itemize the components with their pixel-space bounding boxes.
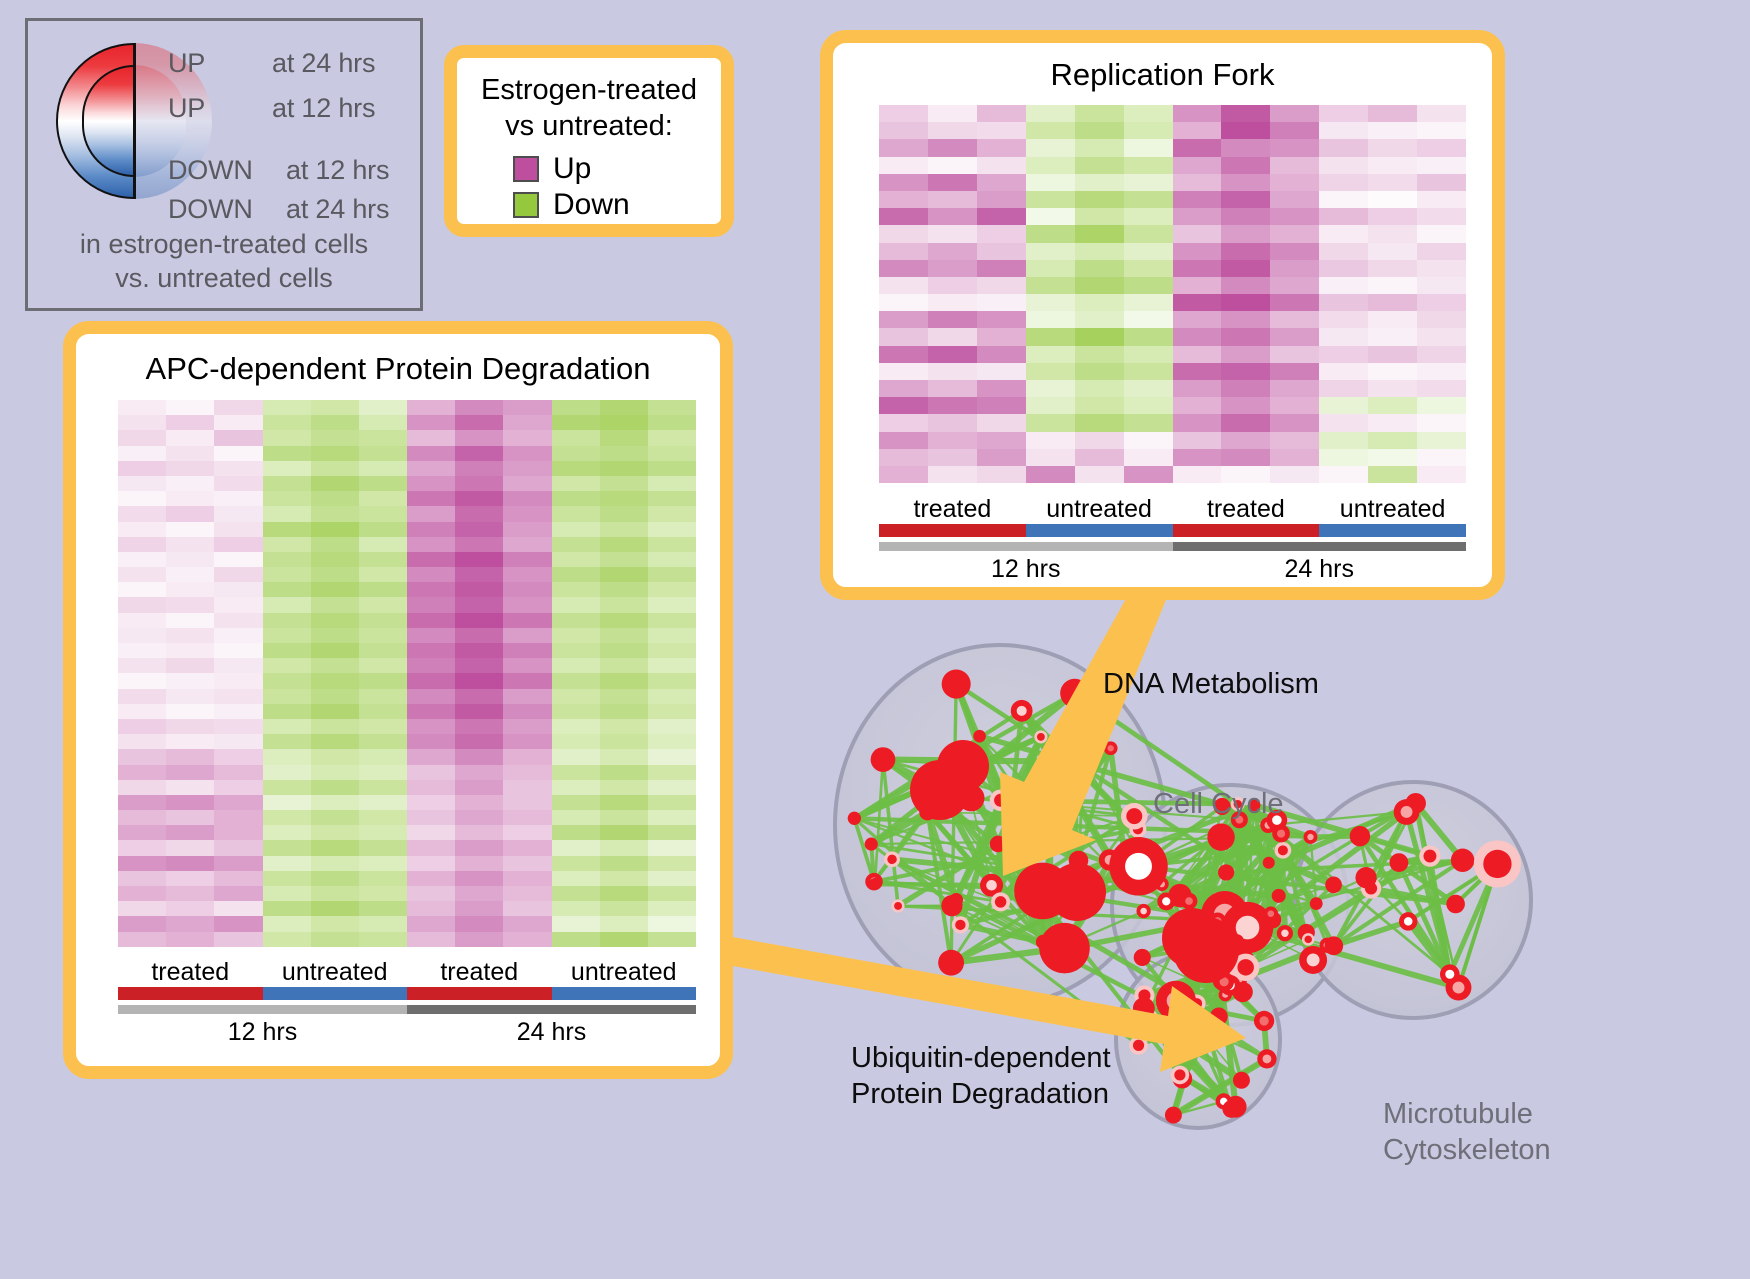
- heatmap-cell: [166, 932, 214, 947]
- heatmap-cell: [455, 932, 503, 947]
- down-swatch-icon: [513, 192, 539, 218]
- heatmap-cell: [648, 461, 696, 476]
- heatmap-cell: [1368, 294, 1417, 311]
- network-edge: [1238, 945, 1327, 980]
- heatmap-cell: [263, 537, 311, 552]
- network-node: [1165, 1107, 1182, 1124]
- network-edge: [952, 906, 1051, 952]
- heatmap-cell: [503, 825, 551, 840]
- network-edge: [892, 859, 1001, 902]
- network-node: [980, 874, 1003, 897]
- network-node-halo: [1171, 1066, 1190, 1085]
- network-node-core: [1401, 806, 1413, 818]
- heatmap-cell: [600, 537, 648, 552]
- network-node: [1405, 793, 1426, 814]
- heatmap-cell: [1319, 174, 1368, 191]
- network-edge: [874, 829, 1138, 881]
- network-node: [1193, 1020, 1206, 1033]
- heatmap-cell: [648, 916, 696, 931]
- heatmap-cell: [648, 430, 696, 445]
- heatmap-cell: [1417, 243, 1466, 260]
- network-node-core: [1281, 930, 1288, 937]
- heatmap-cell: [166, 446, 214, 461]
- network-edge: [1185, 982, 1224, 1020]
- expression-legend-heading: Estrogen-treated vs untreated:: [457, 72, 721, 144]
- heatmap-cell: [600, 628, 648, 643]
- network-edge: [1185, 992, 1243, 1020]
- heatmap-cell: [503, 582, 551, 597]
- replication-fork-group-labels: treateduntreatedtreateduntreated: [879, 495, 1466, 524]
- network-edge: [1269, 863, 1313, 960]
- heatmap-cell: [977, 380, 1026, 397]
- heatmap-cell: [311, 886, 359, 901]
- heatmap-cell: [455, 825, 503, 840]
- cluster-label-microtubule-cytoskeleton: Microtubule Cytoskeleton: [1383, 1096, 1551, 1168]
- network-edge: [1192, 837, 1310, 934]
- heatmap-cell: [1319, 225, 1368, 242]
- network-edge: [1306, 933, 1308, 940]
- heatmap-cell: [263, 673, 311, 688]
- network-edge: [874, 882, 1001, 902]
- network-edge: [1239, 820, 1283, 851]
- heatmap-cell: [648, 415, 696, 430]
- heatmap-cell: [977, 397, 1026, 414]
- heatmap-cell: [1173, 294, 1222, 311]
- network-edge: [1022, 711, 1110, 860]
- network-node-halo: [891, 899, 904, 912]
- network-edge: [1334, 863, 1399, 946]
- heatmap-cell: [1075, 225, 1124, 242]
- network-edge: [1360, 836, 1371, 888]
- heatmap-cell: [359, 567, 407, 582]
- heatmap-cell: [1270, 174, 1319, 191]
- network-edge: [1078, 762, 1084, 861]
- heatmap-cell: [118, 780, 166, 795]
- heatmap-cell: [977, 294, 1026, 311]
- heatmap-cell: [552, 734, 600, 749]
- heatmap-cell: [263, 430, 311, 445]
- network-edge: [1399, 856, 1430, 863]
- network-node: [1133, 824, 1143, 834]
- heatmap-cell: [166, 400, 214, 415]
- heatmap-cell: [552, 704, 600, 719]
- network-edge: [1183, 992, 1243, 1005]
- heatmap-cell: [977, 328, 1026, 345]
- network-edge: [1218, 921, 1255, 929]
- network-node-halo: [884, 851, 900, 867]
- network-node-halo: [991, 892, 1010, 911]
- heatmap-cell: [928, 191, 977, 208]
- heatmap-cell: [166, 597, 214, 612]
- heatmap-cell: [1319, 208, 1368, 225]
- network-edge: [1162, 884, 1194, 935]
- heatmap-cell: [648, 552, 696, 567]
- heatmap-cell: [879, 380, 928, 397]
- heatmap-cell: [879, 157, 928, 174]
- heatmap-cell: [214, 840, 262, 855]
- heatmap-cell: [1319, 346, 1368, 363]
- heatmap-cell: [1417, 260, 1466, 277]
- network-node: [1223, 974, 1235, 986]
- network-edge: [1407, 812, 1450, 974]
- network-node: [1218, 903, 1245, 930]
- network-edge: [1144, 995, 1179, 1074]
- heatmap-cell: [977, 225, 1026, 242]
- heatmap-cell: [311, 780, 359, 795]
- heatmap-cell: [1221, 432, 1270, 449]
- network-edge: [1144, 995, 1147, 1019]
- heatmap-cell: [1075, 311, 1124, 328]
- heatmap-cell: [648, 856, 696, 871]
- heatmap-cell: [359, 795, 407, 810]
- network-node: [1399, 912, 1418, 931]
- network-node: [1272, 889, 1286, 903]
- network-edge: [1310, 837, 1316, 904]
- heatmap-cell: [648, 476, 696, 491]
- column-group-color-segment: [263, 987, 408, 1000]
- colorwheel-caption: in estrogen-treated cells vs. untreated …: [28, 227, 420, 295]
- heatmap-cell: [600, 704, 648, 719]
- network-edge: [928, 812, 992, 885]
- heatmap-cell: [1270, 157, 1319, 174]
- heatmap-cell: [214, 522, 262, 537]
- heatmap-cell: [455, 765, 503, 780]
- network-node: [1483, 850, 1511, 878]
- heatmap-cell: [166, 886, 214, 901]
- network-node: [1126, 808, 1142, 824]
- network-node-core: [1307, 834, 1313, 840]
- heatmap-cell: [166, 765, 214, 780]
- heatmap-cell: [552, 597, 600, 612]
- heatmap-cell: [166, 704, 214, 719]
- network-node-core: [1048, 840, 1054, 846]
- cluster-label-ubiquitin-line-1: Ubiquitin-dependent: [851, 1040, 1111, 1076]
- network-edge: [854, 737, 1041, 818]
- heatmap-cell: [455, 840, 503, 855]
- colorwheel-legend-box: UP at 24 hrs UP at 12 hrs DOWN at 12 hrs…: [25, 18, 423, 311]
- heatmap-cell: [118, 749, 166, 764]
- network-edge: [1178, 921, 1218, 946]
- heatmap-cell: [1026, 363, 1075, 380]
- network-edge: [1248, 928, 1255, 930]
- network-edge: [1237, 914, 1271, 941]
- heatmap-cell: [928, 346, 977, 363]
- heatmap-cell: [1368, 139, 1417, 156]
- network-edge: [1268, 825, 1450, 974]
- heatmap-cell: [1221, 225, 1270, 242]
- heatmap-cell: [407, 810, 455, 825]
- heatmap-cell: [552, 522, 600, 537]
- heatmap-cell: [311, 673, 359, 688]
- heatmap-cell: [214, 597, 262, 612]
- heatmap-cell: [1173, 174, 1222, 191]
- colorwheel-row-3-label: DOWN: [168, 194, 253, 225]
- up-swatch-icon: [513, 156, 539, 182]
- heatmap-cell: [503, 446, 551, 461]
- network-edge: [1245, 896, 1279, 960]
- network-node: [1220, 975, 1241, 996]
- heatmap-cell: [359, 765, 407, 780]
- heatmap-cell: [1173, 397, 1222, 414]
- heatmap-cell: [166, 461, 214, 476]
- heatmap-cell: [928, 363, 977, 380]
- heatmap-cell: [214, 400, 262, 415]
- network-node-halo: [1244, 918, 1267, 941]
- heatmap-cell: [1270, 311, 1319, 328]
- heatmap-cell: [359, 901, 407, 916]
- heatmap-cell: [1075, 105, 1124, 122]
- heatmap-cell: [166, 734, 214, 749]
- heatmap-cell: [455, 446, 503, 461]
- heatmap-cell: [311, 430, 359, 445]
- network-edge: [1173, 1026, 1199, 1115]
- heatmap-cell: [648, 886, 696, 901]
- network-edge: [940, 790, 1043, 942]
- network-node-core: [1140, 908, 1147, 915]
- network-edge: [963, 766, 992, 885]
- network-node-core: [1267, 910, 1274, 917]
- heatmap-cell: [1075, 174, 1124, 191]
- heatmap-cell: [600, 932, 648, 947]
- network-edge: [1022, 711, 1138, 829]
- heatmap-cell: [879, 225, 928, 242]
- network-edge: [1192, 934, 1225, 995]
- network-edge: [1416, 803, 1463, 860]
- heatmap-cell: [214, 886, 262, 901]
- heatmap-cell: [118, 825, 166, 840]
- network-edge: [1192, 860, 1462, 933]
- heatmap-cell: [600, 749, 648, 764]
- cluster-halo-microtubule-cytoskeleton: [1295, 782, 1531, 1018]
- heatmap-cell: [648, 765, 696, 780]
- network-edge: [1269, 863, 1307, 933]
- heatmap-cell: [1270, 191, 1319, 208]
- network-node: [1156, 981, 1196, 1021]
- network-node: [1011, 700, 1033, 722]
- heatmap-cell: [166, 476, 214, 491]
- heatmap-cell: [1417, 191, 1466, 208]
- heatmap-cell: [552, 400, 600, 415]
- network-edge: [1139, 825, 1269, 866]
- network-edge: [1239, 820, 1268, 863]
- heatmap-cell: [552, 461, 600, 476]
- heatmap-cell: [1124, 397, 1173, 414]
- network-edge: [963, 766, 1078, 860]
- network-node: [1162, 908, 1222, 968]
- heatmap-cell: [503, 795, 551, 810]
- network-edge: [1139, 866, 1226, 994]
- heatmap-cell: [1417, 105, 1466, 122]
- heatmap-cell: [1075, 294, 1124, 311]
- heatmap-cell: [1319, 294, 1368, 311]
- network-edge: [1206, 950, 1241, 1080]
- network-edge: [1192, 820, 1239, 938]
- network-edge: [1192, 834, 1281, 934]
- heatmap-cell: [1319, 432, 1368, 449]
- heatmap-cell: [1173, 157, 1222, 174]
- network-edge: [1162, 820, 1240, 884]
- heatmap-cell: [1124, 449, 1173, 466]
- network-edge: [1310, 836, 1359, 837]
- heatmap-cell: [552, 415, 600, 430]
- heatmap-cell: [1026, 105, 1075, 122]
- heatmap-cell: [407, 704, 455, 719]
- network-edge: [1237, 896, 1279, 941]
- network-edge: [971, 798, 1134, 816]
- heatmap-cell: [503, 810, 551, 825]
- heatmap-cell: [214, 613, 262, 628]
- network-edge: [1408, 864, 1497, 921]
- network-edge: [1268, 812, 1406, 825]
- heatmap-cell: [311, 901, 359, 916]
- heatmap-cell: [977, 277, 1026, 294]
- heatmap-cell: [1124, 174, 1173, 191]
- heatmap-cell: [359, 704, 407, 719]
- heatmap-cell: [977, 139, 1026, 156]
- network-edge: [1218, 885, 1334, 921]
- arrow-replication-fork: [1000, 595, 1168, 876]
- heatmap-cell: [1368, 311, 1417, 328]
- heatmap-cell: [407, 400, 455, 415]
- heatmap-cell: [407, 446, 455, 461]
- network-node: [1225, 1096, 1247, 1118]
- heatmap-cell: [166, 658, 214, 673]
- heatmap-cell: [1221, 397, 1270, 414]
- heatmap-cell: [879, 260, 928, 277]
- heatmap-cell: [166, 491, 214, 506]
- heatmap-cell: [311, 734, 359, 749]
- heatmap-cell: [1026, 380, 1075, 397]
- heatmap-cell: [118, 704, 166, 719]
- heatmap-cell: [407, 582, 455, 597]
- network-edge: [1139, 992, 1243, 1045]
- network-edge: [1225, 837, 1311, 915]
- heatmap-cell: [455, 780, 503, 795]
- network-node-core: [1445, 970, 1454, 979]
- network-edge: [883, 760, 1138, 830]
- network-node-core: [1404, 917, 1413, 926]
- network-edge: [1065, 829, 1138, 948]
- network-edge: [1399, 856, 1430, 863]
- heatmap-cell: [166, 689, 214, 704]
- heatmap-cell: [118, 886, 166, 901]
- network-edge: [1192, 938, 1206, 950]
- heatmap-cell: [879, 328, 928, 345]
- heatmap-cell: [407, 689, 455, 704]
- network-edge: [1178, 946, 1197, 1003]
- network-node: [1157, 892, 1175, 910]
- network-edge: [1192, 934, 1225, 995]
- heatmap-cell: [1173, 260, 1222, 277]
- network-node-halo: [1165, 934, 1190, 959]
- heatmap-cell: [1221, 414, 1270, 431]
- network-edge: [1148, 1019, 1242, 1080]
- network-edge: [871, 837, 1310, 844]
- heatmap-cell: [407, 643, 455, 658]
- network-edge: [1246, 885, 1334, 967]
- network-node: [869, 878, 881, 890]
- heatmap-cell: [359, 597, 407, 612]
- network-edge: [1281, 834, 1310, 837]
- network-edge: [1001, 748, 1111, 902]
- heatmap-cell: [214, 810, 262, 825]
- heatmap-cell: [1270, 432, 1319, 449]
- replication-fork-panel: Replication Fork treateduntreatedtreated…: [820, 30, 1505, 600]
- heatmap-cell: [455, 597, 503, 612]
- heatmap-cell: [600, 734, 648, 749]
- legend-item-down: Down: [513, 187, 721, 223]
- heatmap-cell: [1221, 122, 1270, 139]
- column-group-label: treated: [879, 495, 1026, 524]
- heatmap-cell: [263, 916, 311, 931]
- heatmap-cell: [1270, 139, 1319, 156]
- network-node: [1048, 863, 1106, 921]
- heatmap-cell: [118, 522, 166, 537]
- network-edge: [854, 818, 1327, 945]
- heatmap-cell: [359, 734, 407, 749]
- network-node: [955, 920, 965, 930]
- network-node: [1222, 902, 1273, 953]
- heatmap-cell: [1417, 277, 1466, 294]
- heatmap-cell: [648, 658, 696, 673]
- network-node: [1209, 913, 1226, 930]
- heatmap-cell: [166, 749, 214, 764]
- heatmap-cell: [977, 363, 1026, 380]
- network-node: [1207, 823, 1234, 850]
- heatmap-cell: [118, 430, 166, 445]
- network-edge: [1248, 825, 1269, 927]
- heatmap-cell: [214, 749, 262, 764]
- heatmap-cell: [552, 840, 600, 855]
- network-edge: [1139, 1016, 1219, 1045]
- heatmap-cell: [359, 689, 407, 704]
- heatmap-cell: [166, 780, 214, 795]
- network-edge: [1192, 935, 1194, 938]
- network-node-core: [1162, 897, 1170, 905]
- cluster-label-ubiquitin-protein-degradation: Ubiquitin-dependent Protein Degradation: [851, 1040, 1111, 1112]
- network-edge: [1144, 1008, 1148, 1019]
- heatmap-cell: [166, 673, 214, 688]
- network-edge: [1218, 921, 1285, 933]
- expression-legend-heading-line-1: Estrogen-treated: [457, 72, 721, 108]
- network-node-core: [953, 897, 959, 903]
- network-node-halo: [1302, 933, 1315, 946]
- heatmap-cell: [166, 719, 214, 734]
- heatmap-cell: [1124, 191, 1173, 208]
- network-edge: [928, 798, 972, 812]
- heatmap-cell: [1173, 346, 1222, 363]
- heatmap-cell: [503, 552, 551, 567]
- heatmap-cell: [166, 430, 214, 445]
- network-node: [1263, 857, 1275, 869]
- network-node: [1174, 996, 1191, 1013]
- heatmap-cell: [118, 643, 166, 658]
- network-node-core: [1262, 1054, 1271, 1063]
- heatmap-cell: [311, 916, 359, 931]
- network-edge: [1194, 935, 1197, 1003]
- expression-legend-items: Up Down: [457, 151, 721, 223]
- heatmap-cell: [1270, 397, 1319, 414]
- network-node: [1210, 1007, 1228, 1025]
- network-edge: [1360, 803, 1416, 836]
- heatmap-cell: [455, 582, 503, 597]
- network-edge: [1239, 820, 1245, 968]
- network-edge: [1142, 935, 1194, 957]
- network-edge: [1192, 804, 1237, 933]
- heatmap-cell: [455, 886, 503, 901]
- network-edge: [971, 798, 1064, 948]
- network-edge: [1189, 901, 1306, 932]
